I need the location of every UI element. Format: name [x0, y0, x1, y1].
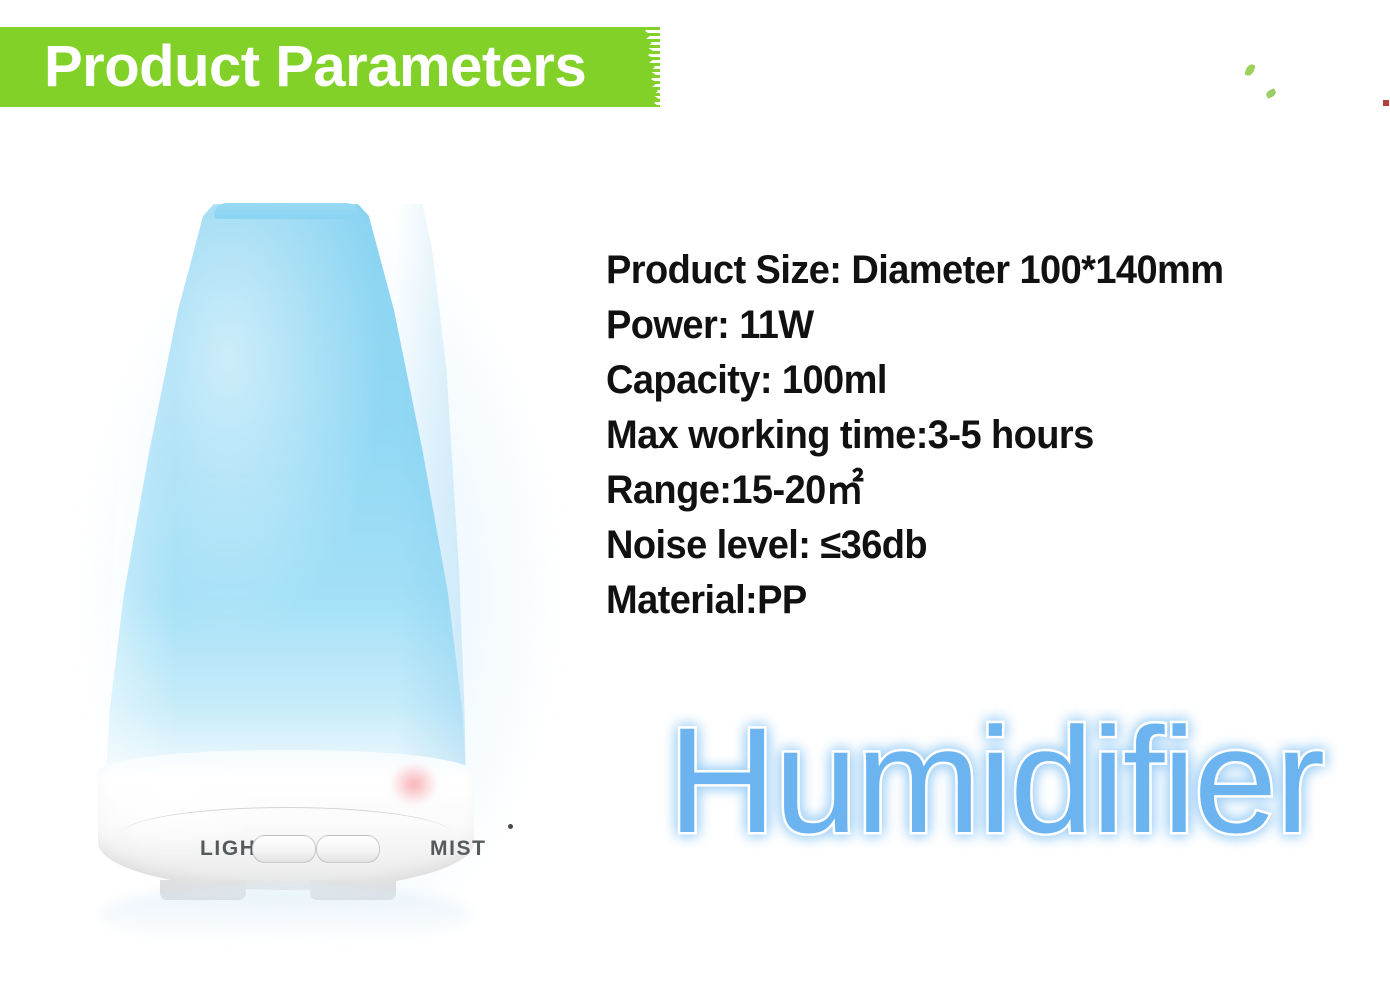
- product-parameters-page: Product Parameters LIGHT MIST Product Si…: [0, 0, 1390, 1000]
- status-dot-icon: [508, 824, 513, 829]
- stray-mark-green: [1244, 63, 1255, 77]
- diffuser-mist-outlet: [214, 203, 359, 219]
- specification-list: Product Size: Diameter 100*140mm Power: …: [606, 243, 1390, 628]
- spec-capacity: Capacity: 100ml: [606, 353, 1351, 408]
- stray-mark-red: [1383, 100, 1389, 106]
- light-button[interactable]: [252, 835, 316, 863]
- stray-mark-green: [1265, 88, 1277, 99]
- product-image: LIGHT MIST: [60, 185, 580, 925]
- humidifier-wordart-text: Humidifier: [668, 696, 1323, 864]
- power-led-indicator: [390, 763, 438, 805]
- mist-button-label: MIST: [430, 837, 487, 861]
- spec-product-size: Product Size: Diameter 100*140mm: [606, 243, 1351, 298]
- surface-reflection: [100, 885, 472, 945]
- mist-button[interactable]: [316, 835, 380, 863]
- spec-power: Power: 11W: [606, 298, 1351, 353]
- page-title: Product Parameters: [44, 27, 586, 107]
- spec-range: Range:15-20㎡: [606, 463, 1351, 518]
- spec-max-working-time: Max working time:3-5 hours: [606, 408, 1351, 463]
- spec-material: Material:PP: [606, 573, 1351, 628]
- humidifier-wordart: Humidifier: [668, 706, 1368, 871]
- spec-noise-level: Noise level: ≤36db: [606, 518, 1351, 573]
